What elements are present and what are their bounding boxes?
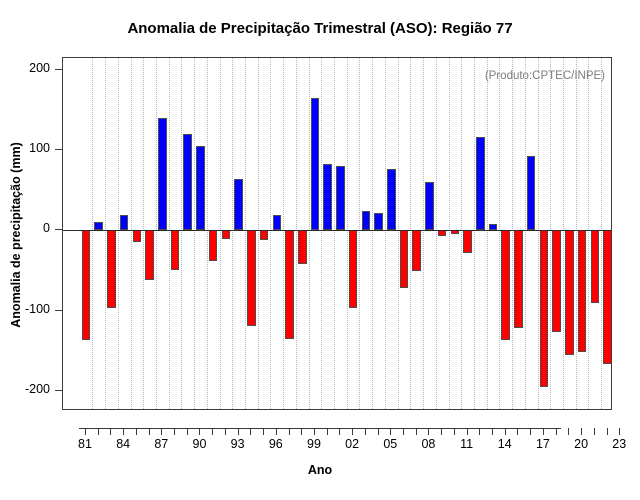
x-tick-mark xyxy=(136,428,137,435)
x-tick-label: 14 xyxy=(498,437,512,451)
x-tick-mark xyxy=(568,428,569,435)
x-tick-mark xyxy=(250,428,251,435)
x-tick-mark xyxy=(225,428,226,435)
x-tick-mark xyxy=(161,428,162,435)
x-tick-label: 05 xyxy=(383,437,397,451)
y-tick-label: 0 xyxy=(43,221,50,235)
x-tick-mark xyxy=(110,428,111,435)
x-tick-label: 02 xyxy=(345,437,359,451)
x-tick-mark xyxy=(276,428,277,435)
y-tick-mark xyxy=(55,69,62,70)
x-tick-mark xyxy=(339,428,340,435)
x-axis-line xyxy=(79,428,561,429)
y-tick-label: -200 xyxy=(25,382,50,396)
x-tick-mark xyxy=(530,428,531,435)
x-tick-mark xyxy=(428,428,429,435)
x-tick-mark xyxy=(301,428,302,435)
x-tick-mark xyxy=(123,428,124,435)
y-tick-mark xyxy=(55,390,62,391)
y-tick-label: 100 xyxy=(29,141,50,155)
y-tick-label: 200 xyxy=(29,61,50,75)
chart-title: Anomalia de Precipitação Trimestral (ASO… xyxy=(0,20,640,37)
x-tick-mark xyxy=(263,428,264,435)
x-tick-mark xyxy=(594,428,595,435)
x-tick-mark xyxy=(416,428,417,435)
x-axis: 818487909396990205081114172023 xyxy=(0,410,640,470)
x-tick-mark xyxy=(492,428,493,435)
x-tick-label: 20 xyxy=(574,437,588,451)
y-tick-mark xyxy=(55,229,62,230)
y-axis-label: Anomalia de precipitação (mm) xyxy=(9,125,23,345)
x-tick-label: 81 xyxy=(78,437,92,451)
x-tick-mark xyxy=(365,428,366,435)
x-tick-mark xyxy=(238,428,239,435)
x-tick-mark xyxy=(556,428,557,435)
x-tick-mark xyxy=(85,428,86,435)
x-tick-mark xyxy=(619,428,620,435)
x-tick-mark xyxy=(390,428,391,435)
x-tick-label: 93 xyxy=(231,437,245,451)
plot-area: (Produto:CPTEC/INPE) xyxy=(62,57,612,410)
x-tick-mark xyxy=(199,428,200,435)
x-tick-mark xyxy=(327,428,328,435)
x-tick-mark xyxy=(517,428,518,435)
x-tick-mark xyxy=(174,428,175,435)
x-tick-mark xyxy=(467,428,468,435)
product-credit: (Produto:CPTEC/INPE) xyxy=(485,70,605,82)
credit-layer: (Produto:CPTEC/INPE) xyxy=(63,58,611,409)
y-tick-mark xyxy=(55,149,62,150)
x-tick-label: 99 xyxy=(307,437,321,451)
x-tick-mark xyxy=(479,428,480,435)
y-tick-label: -100 xyxy=(25,302,50,316)
x-tick-mark xyxy=(212,428,213,435)
y-tick-mark xyxy=(55,310,62,311)
x-tick-mark xyxy=(581,428,582,435)
x-tick-mark xyxy=(403,428,404,435)
x-tick-mark xyxy=(607,428,608,435)
chart-figure: Anomalia de Precipitação Trimestral (ASO… xyxy=(0,0,640,500)
x-tick-label: 84 xyxy=(116,437,130,451)
x-tick-mark xyxy=(441,428,442,435)
x-axis-label: Ano xyxy=(0,463,640,477)
x-tick-mark xyxy=(314,428,315,435)
x-tick-mark xyxy=(98,428,99,435)
x-tick-mark xyxy=(352,428,353,435)
x-tick-mark xyxy=(505,428,506,435)
x-tick-mark xyxy=(378,428,379,435)
x-tick-label: 96 xyxy=(269,437,283,451)
x-tick-label: 23 xyxy=(612,437,626,451)
x-tick-label: 11 xyxy=(460,437,473,451)
x-tick-label: 17 xyxy=(536,437,550,451)
x-tick-label: 87 xyxy=(154,437,168,451)
x-tick-label: 08 xyxy=(421,437,435,451)
x-tick-mark xyxy=(454,428,455,435)
x-tick-mark xyxy=(187,428,188,435)
x-tick-label: 90 xyxy=(193,437,207,451)
x-tick-mark xyxy=(543,428,544,435)
x-tick-mark xyxy=(149,428,150,435)
x-tick-mark xyxy=(289,428,290,435)
